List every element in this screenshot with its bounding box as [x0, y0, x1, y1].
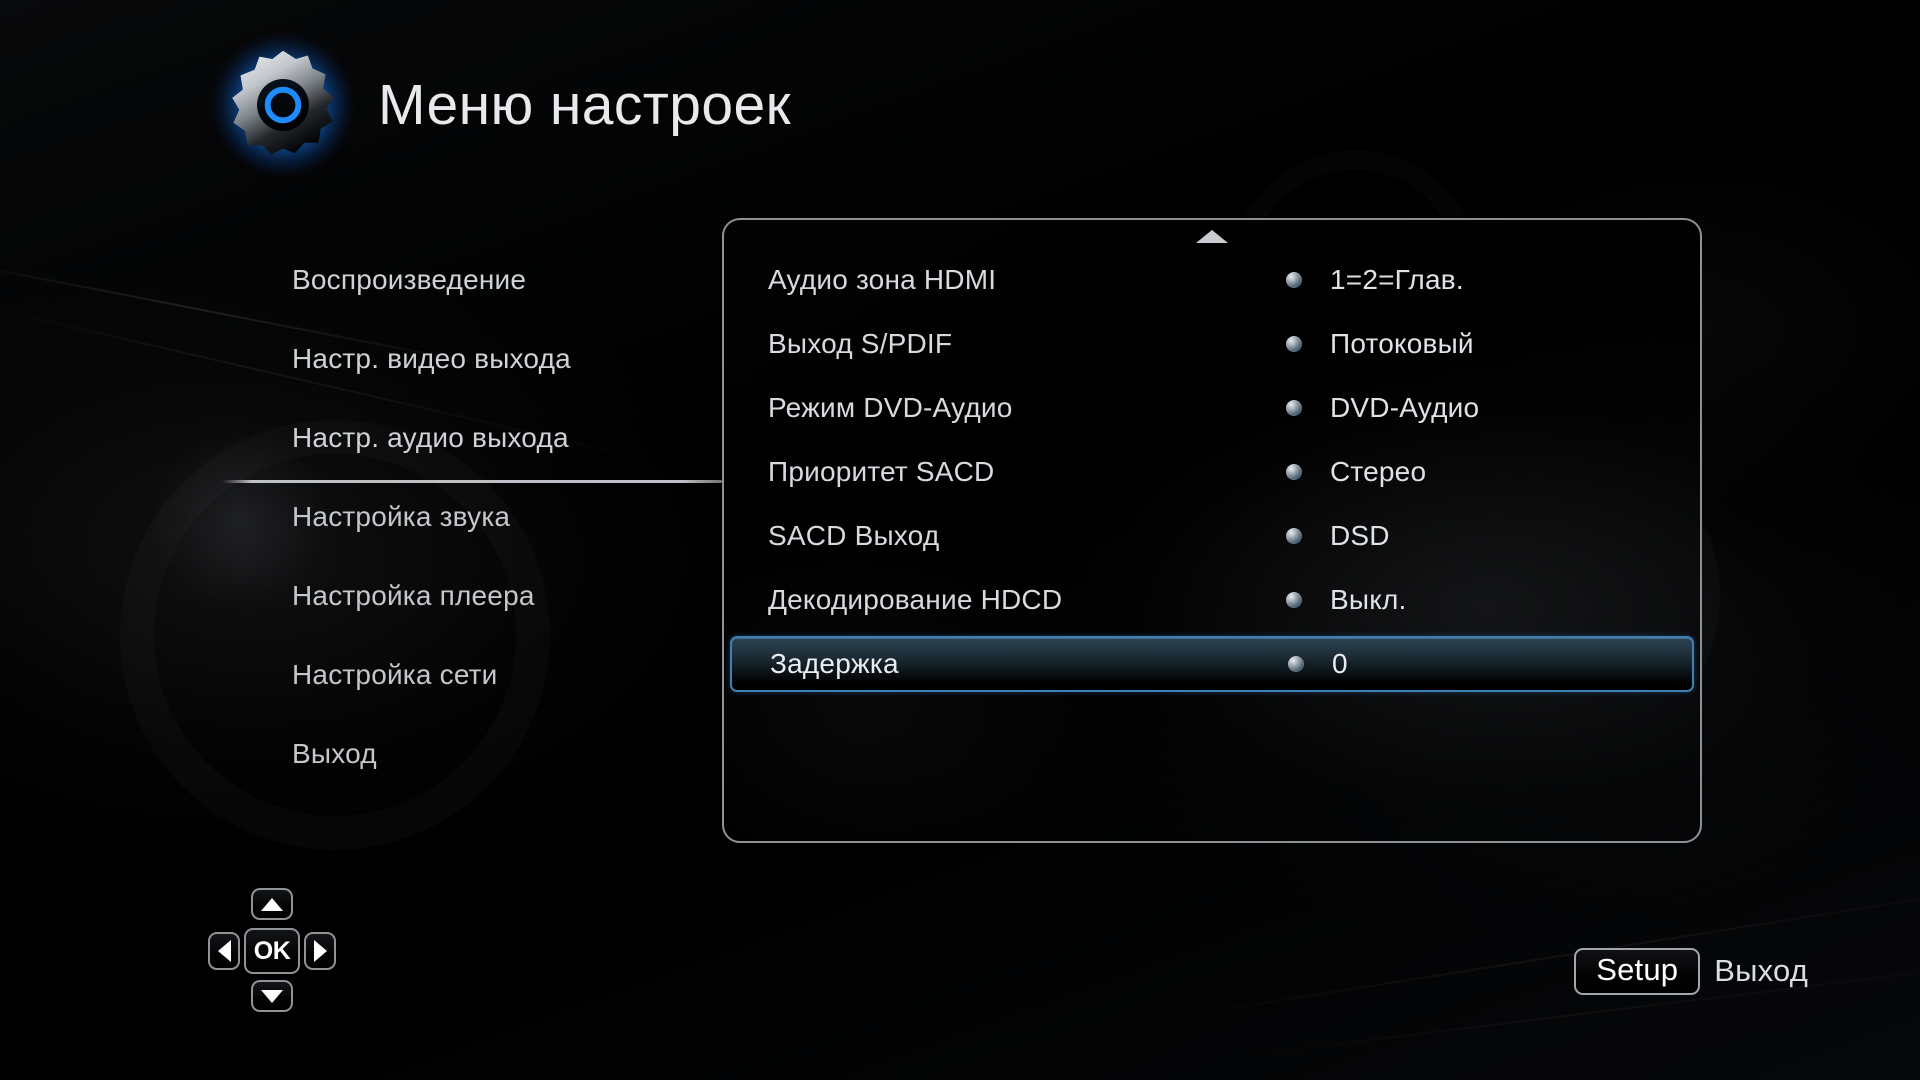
setup-key-button[interactable]: Setup: [1574, 948, 1700, 995]
gear-icon: [222, 44, 344, 166]
sidebar-item-label: Выход: [292, 738, 377, 770]
option-row-dvd-audio-mode[interactable]: Режим DVD-Аудио DVD-Аудио: [730, 380, 1694, 436]
radio-selected-icon: [1286, 336, 1302, 352]
radio-selected-icon: [1286, 272, 1302, 288]
option-value: DSD: [1330, 520, 1390, 552]
option-row-sacd-output[interactable]: SACD Выход DSD: [730, 508, 1694, 564]
option-label: Выход S/PDIF: [768, 328, 952, 360]
dpad-ok-label: OK: [254, 939, 291, 964]
radio-selected-icon: [1286, 400, 1302, 416]
radio-selected-icon: [1286, 464, 1302, 480]
sidebar-item-sound-setup[interactable]: Настройка звука: [222, 495, 652, 539]
radio-selected-icon: [1288, 656, 1304, 672]
option-row-delay[interactable]: Задержка 0: [730, 636, 1694, 692]
triangle-right-icon: [314, 940, 327, 962]
sidebar-item-exit[interactable]: Выход: [222, 732, 652, 776]
options-panel: Аудио зона HDMI 1=2=Глав. Выход S/PDIF П…: [722, 218, 1702, 843]
options-list: Аудио зона HDMI 1=2=Глав. Выход S/PDIF П…: [724, 220, 1700, 692]
sidebar-item-label: Настройка звука: [292, 501, 510, 533]
sidebar-item-player-setup[interactable]: Настройка плеера: [222, 574, 652, 618]
option-row-spdif-output[interactable]: Выход S/PDIF Потоковый: [730, 316, 1694, 372]
page-title: Меню настроек: [378, 72, 791, 138]
option-row-sacd-priority[interactable]: Приоритет SACD Стерео: [730, 444, 1694, 500]
option-row-hdcd-decoding[interactable]: Декодирование HDCD Выкл.: [730, 572, 1694, 628]
sidebar-item-network-setup[interactable]: Настройка сети: [222, 653, 652, 697]
option-row-hdmi-audio-zone[interactable]: Аудио зона HDMI 1=2=Глав.: [730, 252, 1694, 308]
option-label: Задержка: [770, 648, 899, 680]
sidebar-nav: Воспроизведение Настр. видео выхода Наст…: [222, 258, 652, 811]
exit-hint-label: Выход: [1714, 953, 1808, 989]
option-label: Приоритет SACD: [768, 456, 994, 488]
page-header: Меню настроек: [222, 44, 791, 166]
sidebar-item-playback[interactable]: Воспроизведение: [222, 258, 652, 302]
dpad-up-button[interactable]: [251, 888, 293, 920]
setup-menu-screen: Меню настроек Воспроизведение Настр. вид…: [0, 0, 1920, 1080]
dpad-left-button[interactable]: [208, 932, 240, 970]
option-value: 0: [1332, 648, 1348, 680]
radio-selected-icon: [1286, 528, 1302, 544]
dpad-ok-button[interactable]: OK: [244, 928, 300, 974]
sidebar-separator: [222, 480, 722, 483]
sidebar-item-label: Воспроизведение: [292, 264, 526, 296]
sidebar-item-label: Настр. видео выхода: [292, 343, 571, 375]
option-value: Стерео: [1330, 456, 1426, 488]
sidebar-item-video-output[interactable]: Настр. видео выхода: [222, 337, 652, 381]
option-value: Выкл.: [1330, 584, 1406, 616]
radio-selected-icon: [1286, 592, 1302, 608]
dpad-right-button[interactable]: [304, 932, 336, 970]
option-value: Потоковый: [1330, 328, 1474, 360]
option-value: 1=2=Глав.: [1330, 264, 1464, 296]
triangle-left-icon: [218, 940, 231, 962]
sidebar-item-label: Настройка сети: [292, 659, 498, 691]
sidebar-item-audio-output[interactable]: Настр. аудио выхода: [222, 416, 652, 460]
sidebar-item-label: Настройка плеера: [292, 580, 535, 612]
option-label: Аудио зона HDMI: [768, 264, 996, 296]
dpad-down-button[interactable]: [251, 980, 293, 1012]
option-label: SACD Выход: [768, 520, 939, 552]
triangle-down-icon: [261, 990, 283, 1003]
option-label: Декодирование HDCD: [768, 584, 1062, 616]
dpad-control: OK: [208, 888, 348, 1016]
option-label: Режим DVD-Аудио: [768, 392, 1013, 424]
exit-hint: Setup Выход: [1574, 948, 1808, 995]
option-value: DVD-Аудио: [1330, 392, 1479, 424]
triangle-up-icon: [261, 898, 283, 911]
sidebar-item-label: Настр. аудио выхода: [292, 422, 569, 454]
